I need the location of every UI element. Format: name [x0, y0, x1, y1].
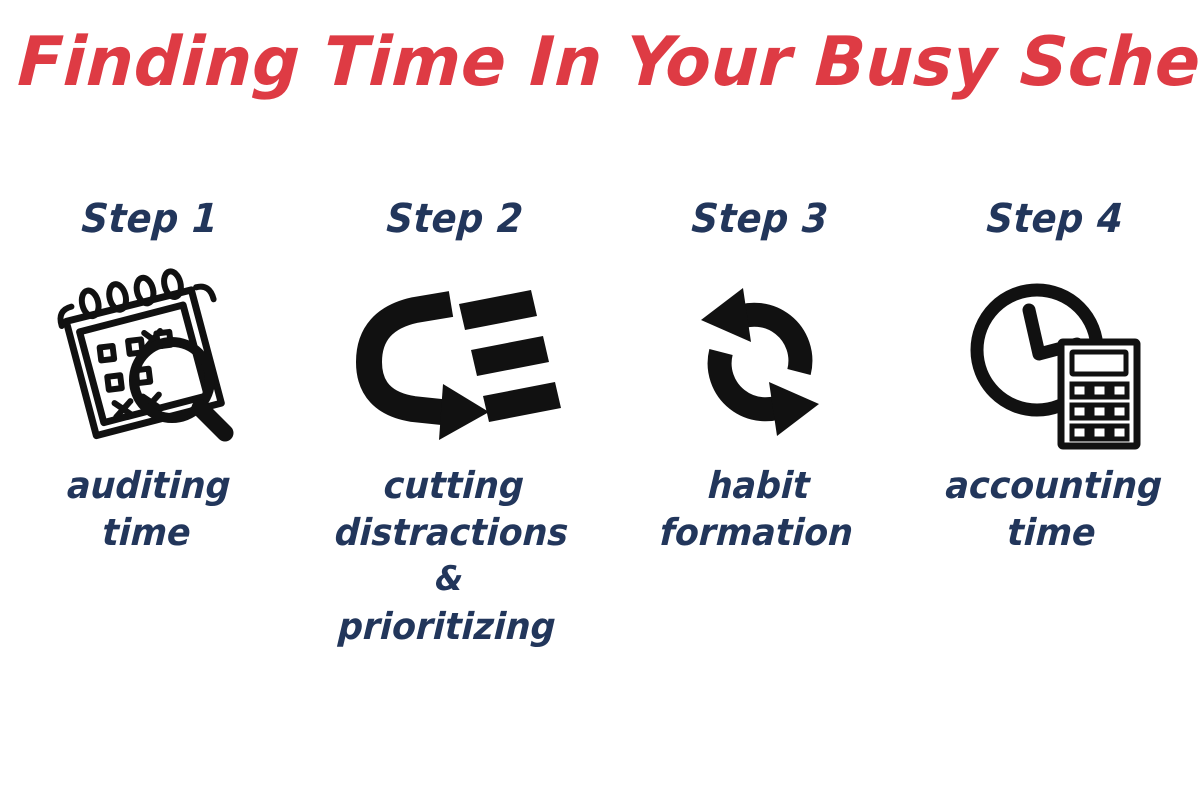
step-2-label: Step 2	[311, 196, 599, 242]
caption-line: auditing	[7, 462, 291, 509]
step-3-caption: habit formation	[614, 462, 901, 556]
step-1-label: Step 1	[11, 196, 290, 242]
step-2-caption: cutting distractions & prioritizing	[300, 462, 601, 650]
clock-calculator-icon	[955, 272, 1155, 452]
caption-line: &	[302, 556, 596, 603]
step-column-4: Step 4	[910, 196, 1200, 776]
steps-row: Step 1	[0, 196, 1200, 776]
caption-line: habit	[617, 462, 901, 509]
step-2-icon-wrap	[300, 262, 610, 462]
step-4-caption: accounting time	[914, 462, 1191, 556]
reorder-arrow-list-icon	[355, 272, 555, 452]
step-1-icon-wrap	[0, 262, 300, 462]
step-3-icon-wrap	[610, 262, 910, 462]
cycle-refresh-arrows-icon	[675, 272, 845, 452]
page-title: Finding Time In Your Busy Schedule	[16, 26, 1184, 100]
caption-line: accounting	[916, 462, 1191, 509]
caption-line: prioritizing	[300, 603, 594, 650]
step-3-label: Step 3	[621, 196, 900, 242]
step-column-1: Step 1	[0, 196, 300, 776]
caption-line: time	[914, 509, 1189, 556]
caption-line: cutting	[307, 462, 601, 509]
step-4-label: Step 4	[920, 196, 1190, 242]
step-4-icon-wrap	[910, 262, 1200, 462]
step-column-3: Step 3 habit formation	[610, 196, 910, 776]
step-1-caption: auditing time	[4, 462, 291, 556]
infographic-poster: Finding Time In Your Busy Schedule Step …	[0, 0, 1200, 800]
caption-line: distractions	[305, 509, 599, 556]
caption-line: time	[4, 509, 288, 556]
caption-line: formation	[614, 509, 898, 556]
calendar-magnifier-icon	[50, 272, 250, 452]
step-column-2: Step 2 cutting distractions &	[300, 196, 610, 776]
